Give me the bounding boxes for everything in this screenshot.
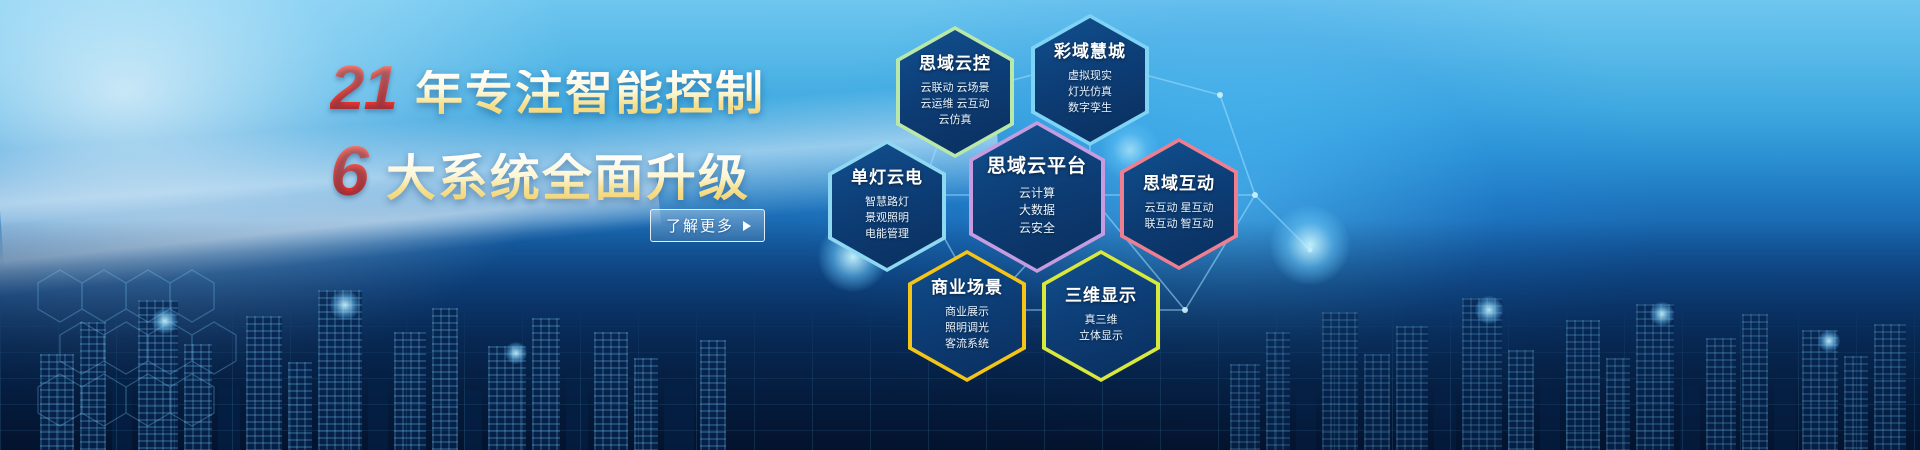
- hexagon-content: 思域云平台 云计算 大数据 云安全: [981, 157, 1093, 237]
- hexagon-single-lamp-cloud-power[interactable]: 单灯云电 智慧路灯 景观照明 电能管理: [828, 140, 946, 272]
- hexagon-subline: 联互动 智互动: [1143, 217, 1215, 233]
- hexagon-subline: 景观照明: [851, 211, 923, 227]
- hexagon-subline: 照明调光: [931, 321, 1003, 337]
- hexagon-subline: 商业展示: [931, 305, 1003, 321]
- hexagon-content: 商业场景 商业展示 照明调光 客流系统: [925, 279, 1009, 353]
- hexagon-subline: 真三维: [1065, 313, 1137, 329]
- hexagon-subline: 云互动 星互动: [1143, 201, 1215, 217]
- hexagon-title: 思域云控: [919, 55, 991, 74]
- headline-text-2: 大系统全面升级: [386, 153, 750, 203]
- hexagon-title: 商业场景: [931, 279, 1003, 298]
- hexagon-content: 三维显示 真三维 立体显示: [1059, 287, 1143, 345]
- hexagon-subline: 云安全: [987, 220, 1087, 237]
- hexagon-content: 思域云控 云联动 云场景 云运维 云互动 云仿真: [913, 55, 997, 129]
- hexagon-subline: 立体显示: [1065, 329, 1137, 345]
- hexagon-subline: 云仿真: [919, 113, 991, 129]
- headline-line-2: 6 大系统全面升级: [330, 136, 800, 206]
- hero-banner: 21 年专注智能控制 6 大系统全面升级 了解更多: [0, 0, 1920, 450]
- learn-more-label: 了解更多: [666, 215, 734, 236]
- hexagon-content: 思域互动 云互动 星互动 联互动 智互动: [1137, 175, 1221, 233]
- hexagon-siyu-cloud-control[interactable]: 思域云控 云联动 云场景 云运维 云互动 云仿真: [896, 26, 1014, 158]
- hexagon-content: 单灯云电 智慧路灯 景观照明 电能管理: [845, 169, 929, 243]
- hexagon-subline: 电能管理: [851, 227, 923, 243]
- hexagon-title: 单灯云电: [851, 169, 923, 188]
- hexagon-subline: 云计算: [987, 185, 1087, 202]
- headline-number-6: 6: [330, 136, 372, 206]
- headline-number-21: 21: [330, 58, 401, 120]
- hexagon-commercial-scene[interactable]: 商业场景 商业展示 照明调光 客流系统: [908, 250, 1026, 382]
- hexagon-subline: 智慧路灯: [851, 195, 923, 211]
- hexagon-subline: 虚拟现实: [1054, 69, 1126, 85]
- hexagon-subline: 云联动 云场景: [919, 81, 991, 97]
- hexagon-siyu-cloud-platform[interactable]: 思域云平台 云计算 大数据 云安全: [969, 121, 1105, 273]
- hexagon-siyu-interactive[interactable]: 思域互动 云互动 星互动 联互动 智互动: [1120, 138, 1238, 270]
- headline-block: 21 年专注智能控制 6 大系统全面升级: [330, 58, 800, 206]
- play-triangle-icon: [743, 221, 751, 231]
- hexagon-three-dimensional-display[interactable]: 三维显示 真三维 立体显示: [1042, 250, 1160, 382]
- headline-text-1: 年专注智能控制: [415, 70, 765, 118]
- hexagon-cluster: 思域云控 云联动 云场景 云运维 云互动 云仿真 彩域慧城 虚拟现实 灯光仿真 …: [800, 0, 1500, 450]
- hexagon-title: 彩域慧城: [1054, 43, 1126, 62]
- headline-line-1: 21 年专注智能控制: [330, 58, 800, 120]
- hexagon-subline: 客流系统: [931, 337, 1003, 353]
- hexagon-subline: 云运维 云互动: [919, 97, 991, 113]
- learn-more-button[interactable]: 了解更多: [650, 209, 765, 242]
- hexagon-subline: 数字孪生: [1054, 101, 1126, 117]
- hexagon-subline: 大数据: [987, 202, 1087, 219]
- hexagon-caiyu-smart-city[interactable]: 彩域慧城 虚拟现实 灯光仿真 数字孪生: [1031, 14, 1149, 146]
- hexagon-title: 思域互动: [1143, 175, 1215, 194]
- hexagon-content: 彩域慧城 虚拟现实 灯光仿真 数字孪生: [1048, 43, 1132, 117]
- hexagon-title: 三维显示: [1065, 287, 1137, 306]
- hexagon-subline: 灯光仿真: [1054, 85, 1126, 101]
- hex-mesh-decoration: [20, 240, 720, 430]
- hexagon-title: 思域云平台: [987, 157, 1087, 178]
